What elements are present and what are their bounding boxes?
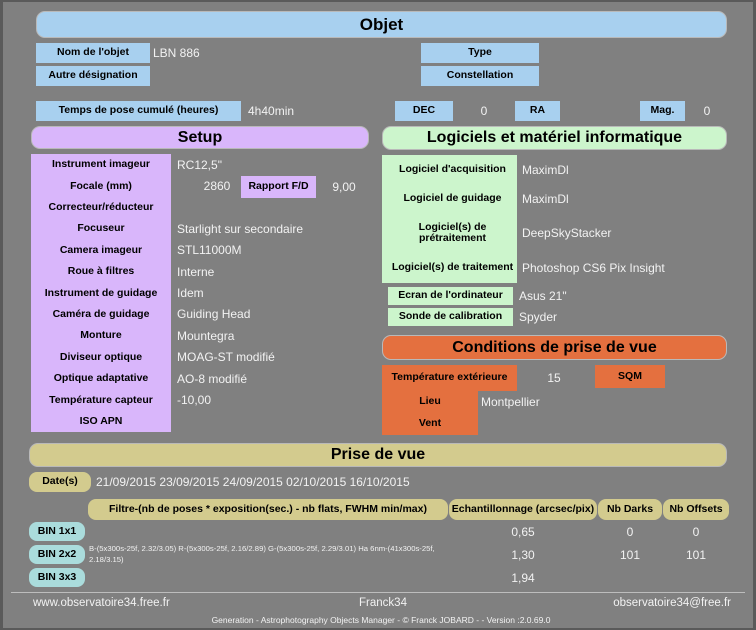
object-other-designation-label: Autre désignation: [36, 66, 150, 86]
object-name-label: Nom de l'objet: [36, 43, 150, 63]
sampling-cell-1[interactable]: 1,30: [449, 545, 597, 564]
setup-rows: Instrument imageurRC12,5"Focale (mm)2860…: [31, 154, 369, 432]
object-other-designation-value[interactable]: [153, 66, 403, 86]
setup-row-label-10: Optique adaptative: [31, 368, 171, 389]
mag-value[interactable]: 0: [687, 101, 727, 121]
setup-row-value-8[interactable]: Mountegra: [177, 325, 367, 346]
setup-row-label-12: ISO APN: [31, 411, 171, 432]
dates-value[interactable]: 21/09/2015 23/09/2015 24/09/2015 02/10/2…: [96, 472, 516, 492]
setup-row-value-4[interactable]: STL11000M: [177, 240, 367, 261]
setup-row-label-9: Diviseur optique: [31, 347, 171, 368]
sqm-label: SQM: [595, 365, 665, 388]
filter-cell-1[interactable]: B-(5x300s-25f, 2.32/3.05) R-(5x300s-25f,…: [89, 543, 445, 566]
setup-row-value-12[interactable]: [177, 411, 367, 432]
setup-row-value-11[interactable]: -10,00: [177, 389, 367, 410]
setup-row-value-3[interactable]: Starlight sur secondaire: [177, 218, 367, 239]
offsets-cell-1[interactable]: 101: [663, 545, 729, 564]
setup-row-label-7: Caméra de guidage: [31, 304, 171, 325]
setup-row-label-11: Température capteur: [31, 389, 171, 410]
sampling-cell-2[interactable]: 1,94: [449, 568, 597, 587]
setup-row-label-0: Instrument imageur: [31, 154, 171, 175]
fd-ratio-value[interactable]: 9,00: [321, 176, 367, 198]
setup-title-banner: Setup: [31, 126, 369, 149]
place-value[interactable]: Montpellier: [481, 391, 681, 413]
footer-website[interactable]: www.observatoire34.free.fr: [33, 595, 293, 611]
setup-row-value-9[interactable]: MOAG-ST modifié: [177, 347, 367, 368]
objet-title-banner: Objet: [36, 11, 727, 38]
dates-label: Date(s): [29, 472, 91, 492]
software-row-value-2[interactable]: DeepSkyStacker: [522, 213, 727, 253]
calibration-probe-label: Sonde de calibration: [388, 308, 513, 326]
setup-row-label-1: Focale (mm): [31, 175, 171, 196]
place-label: Lieu: [382, 391, 478, 413]
setup-row-value-2[interactable]: [177, 197, 367, 218]
setup-row-label-6: Instrument de guidage: [31, 282, 171, 303]
object-constellation-value[interactable]: [543, 66, 723, 86]
software-rows: Logiciel d'acquisitionMaximDlLogiciel de…: [382, 155, 727, 283]
setup-row-label-4: Camera imageur: [31, 240, 171, 261]
bin-label-1[interactable]: BIN 2x2: [29, 545, 85, 564]
object-type-value[interactable]: [543, 43, 723, 63]
software-title: Logiciels et matériel informatique: [427, 129, 682, 147]
darks-cell-0[interactable]: 0: [598, 522, 662, 541]
setup-row-value-10[interactable]: AO-8 modifié: [177, 368, 367, 389]
screen-value[interactable]: Asus 21": [519, 287, 719, 305]
software-title-banner: Logiciels et matériel informatique: [382, 126, 727, 150]
footer-email[interactable]: observatoire34@free.fr: [601, 595, 731, 611]
setup-row-value-5[interactable]: Interne: [177, 261, 367, 282]
ra-value[interactable]: [562, 101, 638, 121]
outside-temperature-value[interactable]: 15: [519, 365, 589, 391]
shooting-rows: BIN 1x10,6500BIN 2x2B-(5x300s-25f, 2.32/…: [3, 520, 756, 587]
mag-label: Mag.: [640, 101, 685, 121]
setup-row-label-8: Monture: [31, 325, 171, 346]
screen-label: Ecran de l'ordinateur: [388, 287, 513, 305]
dec-label: DEC: [395, 101, 453, 121]
total-exposure-value[interactable]: 4h40min: [248, 101, 388, 121]
software-row-value-3[interactable]: Photoshop CS6 Pix Insight: [522, 253, 727, 283]
setup-title: Setup: [178, 129, 222, 147]
shooting-title-banner: Prise de vue: [29, 443, 727, 467]
software-row-value-0[interactable]: MaximDl: [522, 155, 727, 184]
object-constellation-label: Constellation: [421, 66, 539, 86]
calibration-probe-value[interactable]: Spyder: [519, 308, 719, 326]
object-name-value[interactable]: LBN 886: [153, 43, 403, 63]
setup-row-label-2: Correcteur/réducteur: [31, 197, 171, 218]
wind-value[interactable]: [481, 413, 681, 435]
filter-cell-0[interactable]: [89, 520, 445, 543]
ra-label: RA: [515, 101, 560, 121]
bin-label-2[interactable]: BIN 3x3: [29, 568, 85, 587]
setup-row-value-7[interactable]: Guiding Head: [177, 304, 367, 325]
column-header-sampling: Echantillonnage (arcsec/pix): [449, 499, 597, 520]
footer-author: Franck34: [313, 595, 453, 611]
software-row-label-1: Logiciel de guidage: [382, 184, 523, 213]
wind-label: Vent: [382, 413, 478, 435]
darks-cell-2[interactable]: [598, 568, 662, 587]
column-header-offsets: Nb Offsets: [663, 499, 729, 520]
darks-cell-1[interactable]: 101: [598, 545, 662, 564]
fd-ratio-label: Rapport F/D: [241, 176, 316, 198]
footer-generation: Generation - Astrophotography Objects Ma…: [3, 613, 756, 627]
offsets-cell-2[interactable]: [663, 568, 729, 587]
bin-label-0[interactable]: BIN 1x1: [29, 522, 85, 541]
objet-title: Objet: [360, 15, 403, 35]
column-header-darks: Nb Darks: [598, 499, 662, 520]
offsets-cell-0[interactable]: 0: [663, 522, 729, 541]
filter-cell-2[interactable]: [89, 566, 445, 589]
dec-value[interactable]: 0: [455, 101, 513, 121]
astro-object-sheet: Objet Nom de l'objet LBN 886 Autre désig…: [0, 0, 756, 630]
outside-temperature-label: Température extérieure: [382, 365, 517, 391]
total-exposure-label: Temps de pose cumulé (heures): [36, 101, 241, 121]
software-row-label-2: Logiciel(s) de prétraitement: [382, 213, 523, 253]
shooting-title: Prise de vue: [331, 446, 425, 464]
conditions-title: Conditions de prise de vue: [452, 339, 656, 357]
setup-row-value-0[interactable]: RC12,5": [177, 154, 367, 175]
setup-row-value-6[interactable]: Idem: [177, 282, 367, 303]
software-row-value-1[interactable]: MaximDl: [522, 184, 727, 213]
sampling-cell-0[interactable]: 0,65: [449, 522, 597, 541]
object-type-label: Type: [421, 43, 539, 63]
footer-divider: [11, 592, 745, 593]
setup-row-label-3: Focuseur: [31, 218, 171, 239]
column-header-filter: Filtre-(nb de poses * exposition(sec.) -…: [88, 499, 448, 520]
conditions-title-banner: Conditions de prise de vue: [382, 335, 727, 360]
sqm-value[interactable]: [669, 365, 724, 388]
software-row-label-0: Logiciel d'acquisition: [382, 155, 523, 184]
software-row-label-3: Logiciel(s) de traitement: [382, 253, 523, 283]
setup-row-label-5: Roue à filtres: [31, 261, 171, 282]
